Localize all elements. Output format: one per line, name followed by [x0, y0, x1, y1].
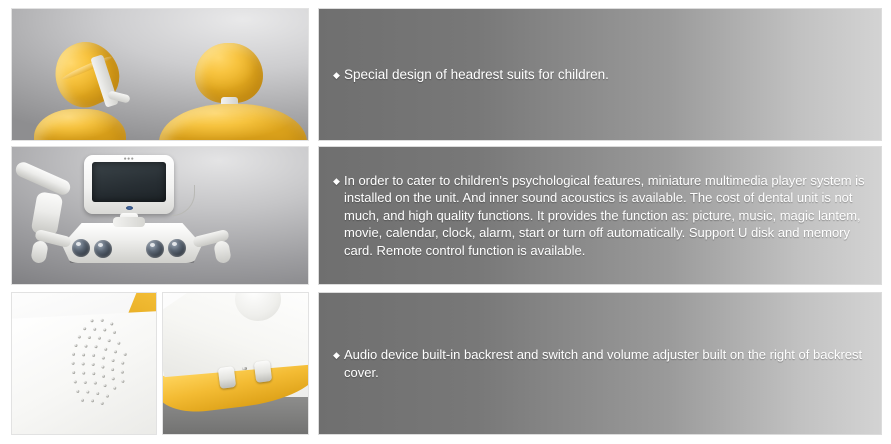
power-switch-knob: [254, 360, 272, 383]
row-multimedia-text-panel: ◆ In order to cater to children's psycho…: [318, 146, 882, 285]
monitor-power-led: [126, 206, 133, 210]
feature-text-multimedia: In order to cater to children's psycholo…: [344, 172, 865, 260]
light-lens-4: [168, 239, 186, 257]
light-lens-1: [72, 239, 90, 257]
feature-bullet-multimedia: ◆ In order to cater to children's psycho…: [333, 172, 865, 260]
speaker-grille-photo: [11, 292, 157, 435]
feature-bullet-headrest: ◆ Special design of headrest suits for c…: [333, 66, 865, 84]
child-headrest-photo: [11, 8, 309, 141]
row-audio-text-panel: ◆ Audio device built-in backrest and swi…: [318, 292, 882, 435]
row-headrest-media: [11, 8, 309, 141]
bullet-diamond-icon: ◆: [333, 172, 344, 260]
indicator-pin: [242, 367, 247, 370]
bullet-diamond-icon: ◆: [333, 346, 344, 381]
feature-text-headrest: Special design of headrest suits for chi…: [344, 66, 865, 84]
row-headrest-text-panel: ◆ Special design of headrest suits for c…: [318, 8, 882, 141]
feature-sheet: ◆ Special design of headrest suits for c…: [0, 0, 891, 444]
volume-adjuster-knob: [218, 366, 236, 389]
bullet-diamond-icon: ◆: [333, 66, 344, 84]
headrest-pad-right: [195, 43, 263, 103]
row-audio-media: [11, 292, 309, 435]
monitor-screen: [92, 162, 166, 202]
feature-text-audio: Audio device built-in backrest and switc…: [344, 346, 865, 381]
monitor-brand-logo: ●●●: [108, 156, 150, 162]
row-multimedia-media: ●●●: [11, 146, 309, 285]
light-lens-2: [94, 240, 112, 258]
volume-knobs-photo: [162, 292, 309, 435]
feature-bullet-audio: ◆ Audio device built-in backrest and swi…: [333, 346, 865, 381]
dental-light-stem: [113, 217, 145, 227]
lcd-monitor-and-led-light-photo: ●●●: [11, 146, 309, 285]
light-lens-3: [146, 240, 164, 258]
